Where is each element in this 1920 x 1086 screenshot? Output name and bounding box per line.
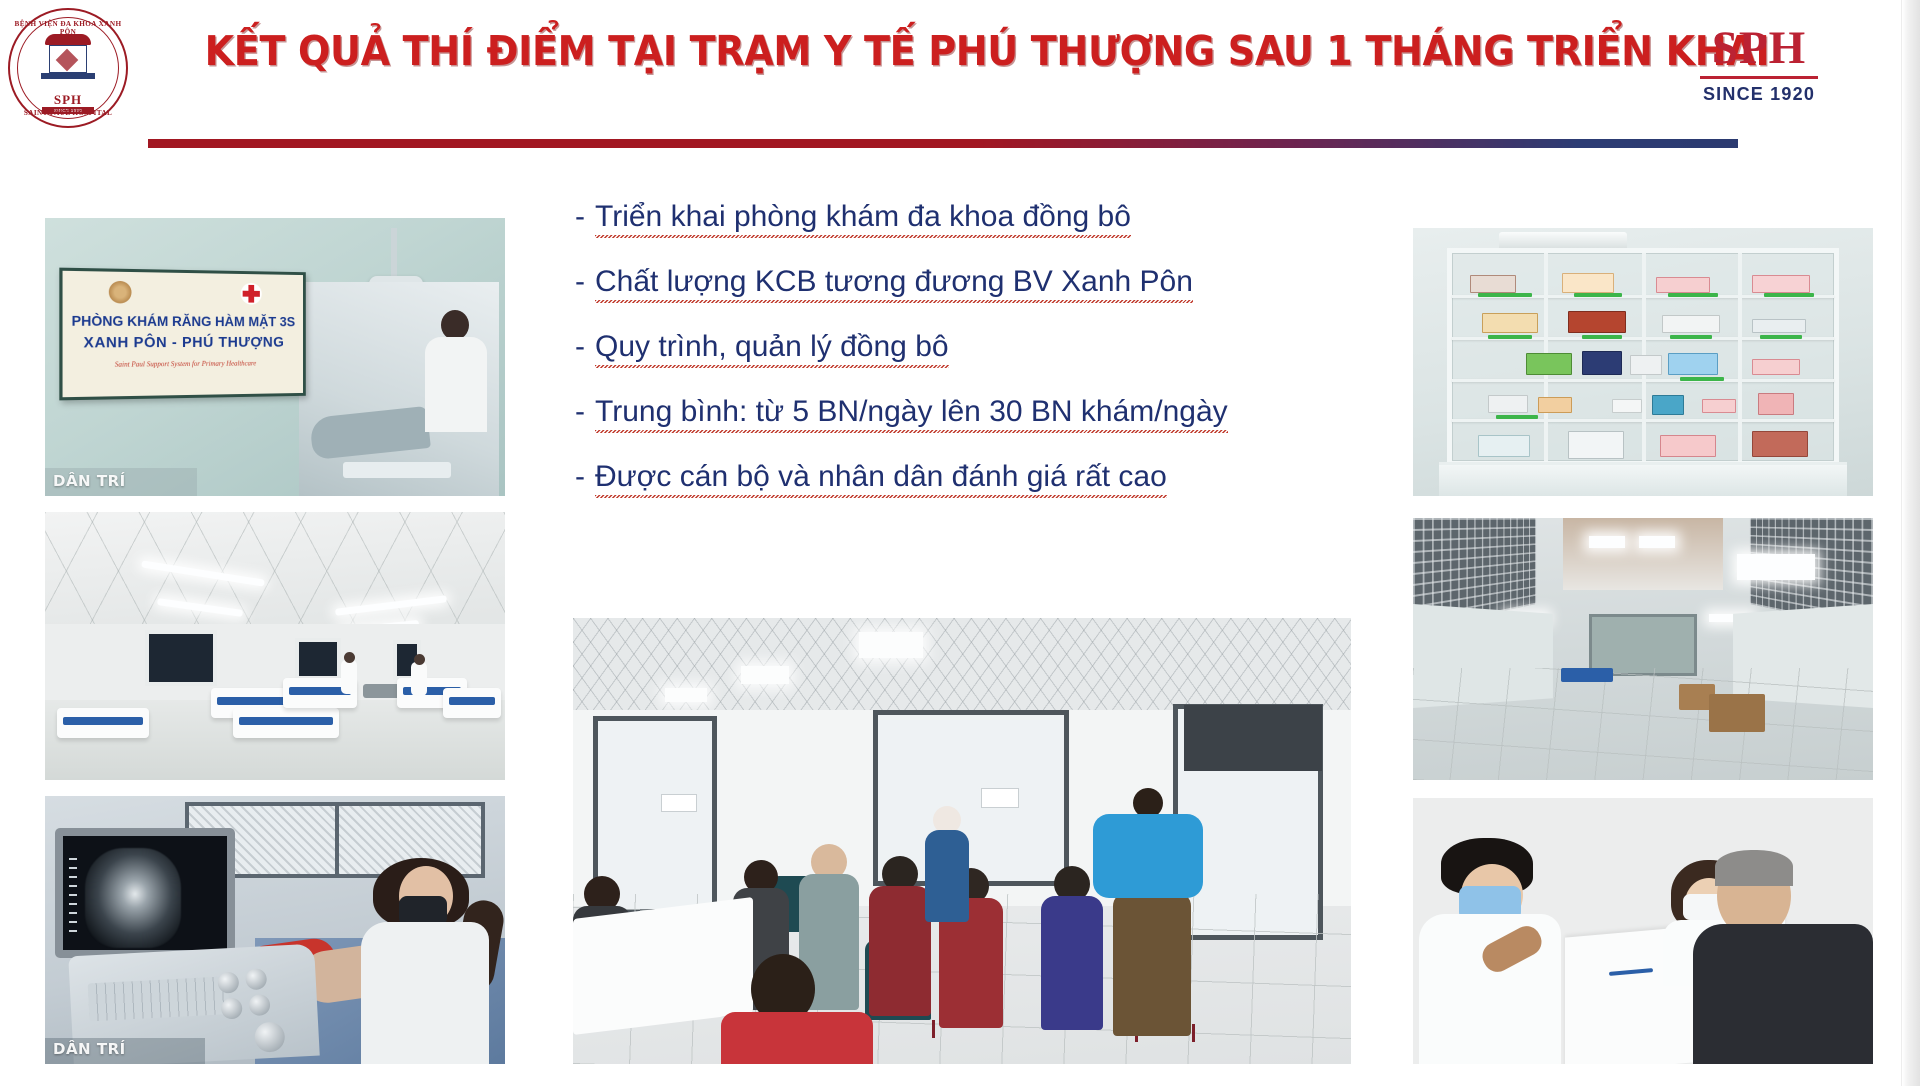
staff-figure (925, 806, 969, 922)
slide-header: BỆNH VIỆN ĐA KHOA XANH PÔN SPH SINCE 192… (0, 0, 1901, 150)
bullet-dash: - (575, 462, 585, 492)
medicine-box (1562, 273, 1614, 293)
dental-lamp-arm (391, 228, 397, 280)
patient-figure (869, 856, 931, 1016)
medicine-box (1630, 355, 1662, 375)
ceiling-light (1737, 554, 1815, 580)
medicine-box (1478, 435, 1530, 457)
sign-line-2: XANH PÔN - PHÚ THƯỢNG (63, 335, 303, 352)
hospital-bed (443, 688, 501, 718)
console-keyboard (88, 976, 230, 1021)
medicine-box (1656, 277, 1710, 293)
list-item: - Chất lượng KCB tương đương BV Xanh Pôn (575, 267, 1335, 303)
presentation-slide: BỆNH VIỆN ĐA KHOA XANH PÔN SPH SINCE 192… (0, 0, 1920, 1086)
medicine-box (1488, 395, 1528, 413)
medicine-box (1660, 435, 1716, 457)
medicine-box (1702, 399, 1736, 413)
male-doctor (1419, 838, 1565, 1064)
gate-emblem-icon (39, 34, 97, 90)
medicine-box (1752, 359, 1800, 375)
list-item: - Triển khai phòng khám đa khoa đồng bô (575, 202, 1335, 238)
ward-window (295, 638, 341, 680)
list-item: - Quy trình, quản lý đồng bô (575, 332, 1335, 368)
console-knob (245, 968, 267, 990)
scan-scale (69, 858, 77, 934)
corridor-ceiling (1563, 518, 1723, 590)
clinic-signboard: PHÒNG KHÁM RĂNG HÀM MẶT 3S XANH PÔN - PH… (59, 268, 305, 401)
reception-desk (1709, 694, 1765, 732)
dental-tray (343, 462, 451, 478)
title-divider (148, 139, 1738, 148)
medicine-box (1662, 315, 1720, 333)
hospital-bed (57, 708, 149, 738)
photo-consultation (1413, 798, 1873, 1064)
wall-sign (981, 788, 1019, 808)
sonographer (359, 866, 499, 1064)
bullet-text: Trung bình: từ 5 BN/ngày lên 30 BN khám/… (595, 397, 1228, 433)
console-knob (221, 997, 243, 1019)
medicine-box (1612, 399, 1642, 413)
console-knob (217, 972, 239, 994)
medicine-box (1568, 431, 1624, 459)
list-item: - Trung bình: từ 5 BN/ngày lên 30 BN khá… (575, 397, 1335, 433)
medicine-box (1526, 353, 1572, 375)
ward-staff (411, 662, 427, 696)
console-knob (249, 994, 271, 1016)
medicine-box (1752, 275, 1810, 293)
wall-sign (661, 794, 697, 812)
medicine-box (1758, 393, 1794, 415)
sign-subtitle: Saint Paul Support System for Primary He… (63, 359, 303, 369)
sph-monogram: SPH (1689, 22, 1829, 74)
sph-tagline: SINCE 1920 (1689, 84, 1829, 105)
sph-brand-logo: SPH SINCE 1920 (1689, 22, 1829, 114)
bullet-text: Chất lượng KCB tương đương BV Xanh Pôn (595, 267, 1193, 303)
photo-ultrasound-exam: DÂN TRÍ (45, 796, 505, 1064)
pharmacy-counter (1439, 462, 1847, 496)
corridor-floor (1413, 668, 1873, 780)
dental-staff (421, 310, 491, 430)
bullet-text: Triển khai phòng khám đa khoa đồng bô (595, 202, 1131, 238)
photo-waiting-room (573, 618, 1351, 1064)
red-cross-icon (241, 283, 262, 305)
sign-line-1: PHÒNG KHÁM RĂNG HÀM MẶT 3S (63, 313, 303, 329)
photo-pharmacy-cabinet (1413, 228, 1873, 496)
wall-screen (1184, 705, 1322, 771)
medicine-box (1668, 353, 1718, 375)
ward-staff (341, 660, 357, 694)
ceiling-light (1589, 536, 1625, 548)
seal-monogram: SPH (8, 92, 128, 108)
medicine-box (1752, 319, 1806, 333)
staff-figure (1093, 788, 1203, 898)
hospital-bed (233, 708, 339, 738)
list-item: - Được cán bộ và nhân dân đánh giá rất c… (575, 462, 1335, 498)
bullet-text: Được cán bộ và nhân dân đánh giá rất cao (595, 462, 1167, 498)
medicine-box (1538, 397, 1572, 413)
bullet-text: Quy trình, quản lý đồng bô (595, 332, 949, 368)
medicine-cabinet (1447, 248, 1839, 466)
bullet-dash: - (575, 267, 585, 297)
ultrasound-scan-image (85, 848, 181, 948)
bullet-dash: - (575, 332, 585, 362)
bullet-dash: - (575, 397, 585, 427)
ceiling-light (741, 666, 789, 684)
patient-being-examined (721, 954, 873, 1064)
ceiling-light (1639, 536, 1675, 548)
hospital-seal-logo: BỆNH VIỆN ĐA KHOA XANH PÔN SPH SINCE 192… (8, 8, 128, 128)
watermark-text: DÂN TRÍ (53, 472, 126, 490)
ceiling-light (859, 632, 923, 658)
ceiling-light (665, 688, 707, 702)
photo-hospital-ward (45, 512, 505, 780)
medicine-box (1568, 311, 1626, 333)
waiting-bench (1561, 668, 1613, 682)
watermark-text: DÂN TRÍ (53, 1040, 126, 1058)
ward-ceiling (45, 512, 505, 630)
medicine-box (1652, 395, 1684, 415)
seal-bottom-text: SAINT PAUL HOSPITAL (8, 109, 128, 117)
viewer-edge-strip (1901, 0, 1920, 1086)
ultrasound-monitor (55, 828, 235, 958)
console-trackball (254, 1021, 286, 1053)
ward-window (145, 630, 217, 686)
page-title: KẾT QUẢ THÍ ĐIỂM TẠI TRẠM Y TẾ PHÚ THƯỢN… (205, 30, 1656, 73)
medicine-box (1582, 351, 1622, 375)
elderly-patient (1693, 854, 1873, 1064)
medicine-box (1752, 431, 1808, 457)
bullet-dash: - (575, 202, 585, 232)
corridor-end-window (1589, 614, 1697, 676)
bullet-list: - Triển khai phòng khám đa khoa đồng bô … (575, 202, 1335, 527)
government-emblem-icon (109, 281, 132, 304)
sph-divider (1700, 76, 1818, 79)
photo-dental-clinic: PHÒNG KHÁM RĂNG HÀM MẶT 3S XANH PÔN - PH… (45, 218, 505, 496)
medicine-box (1470, 275, 1516, 293)
medicine-box (1482, 313, 1538, 333)
photo-hospital-corridor (1413, 518, 1873, 780)
